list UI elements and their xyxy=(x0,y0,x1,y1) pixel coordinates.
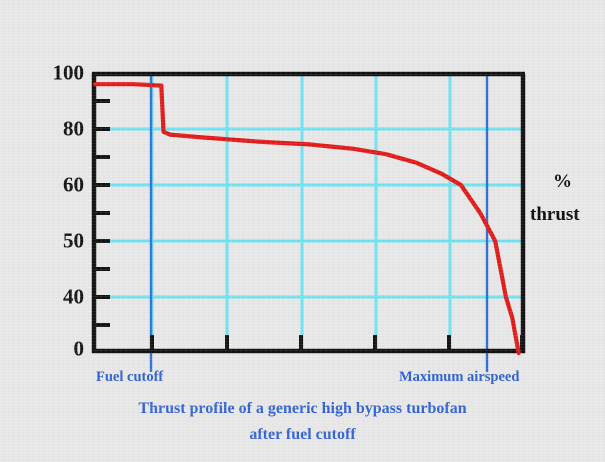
y-tick-label-40: 40 xyxy=(18,287,84,308)
y-tick-label-0: 0 xyxy=(18,339,84,360)
horizontal-gridlines xyxy=(95,129,524,297)
marker-label-maximum-airspeed: Maximum airspeed xyxy=(399,370,519,385)
caption-line-2: after fuel cutoff xyxy=(0,427,605,443)
y-axis-title-percent: % xyxy=(553,172,572,191)
marker-label-fuel-cutoff: Fuel cutoff xyxy=(96,370,163,385)
y-tick-label-60: 60 xyxy=(18,175,84,196)
thrust-curve xyxy=(95,84,519,353)
thrust-profile-plot xyxy=(0,0,605,462)
chart-figure: 100 80 60 50 40 0 % thrust Fuel cutoff M… xyxy=(0,0,605,462)
vertical-gridlines xyxy=(152,75,450,352)
y-tick-label-80: 80 xyxy=(18,119,84,140)
y-tick-label-100: 100 xyxy=(18,63,84,84)
x-axis-ticks xyxy=(152,335,522,351)
y-axis-title-thrust: thrust xyxy=(530,205,580,224)
plot-frame xyxy=(92,73,525,353)
y-tick-label-50: 50 xyxy=(18,231,84,252)
caption-line-1: Thrust profile of a generic high bypass … xyxy=(0,401,605,417)
marker-lines xyxy=(151,72,487,372)
y-axis-ticks xyxy=(94,101,110,325)
